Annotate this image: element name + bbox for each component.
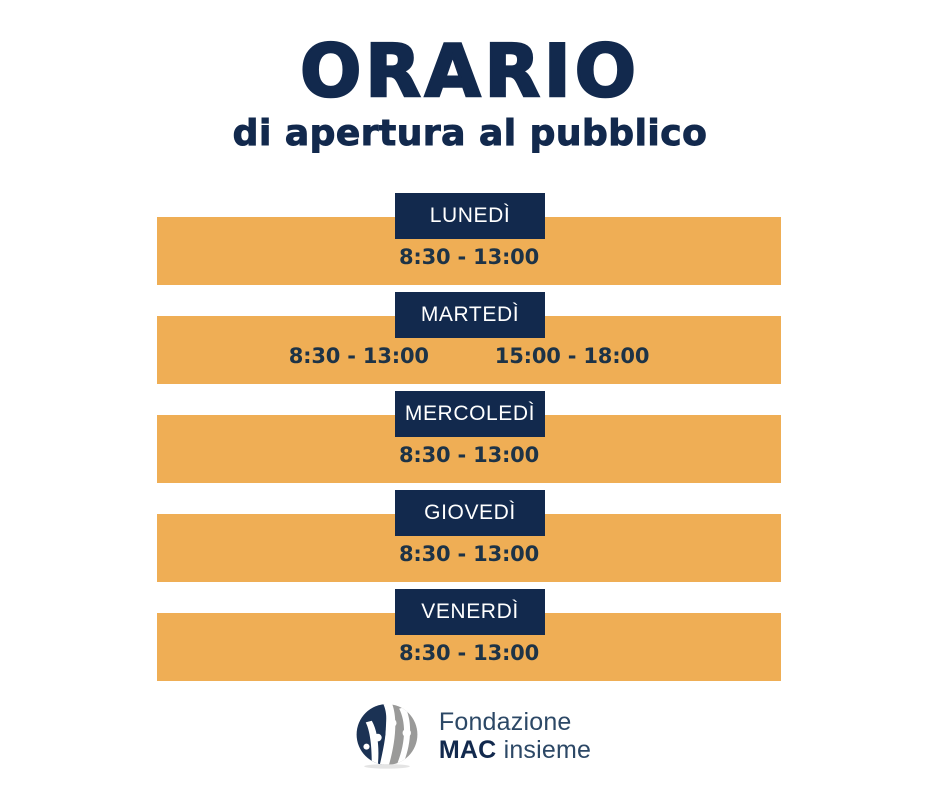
hours-slot: 8:30 - 13:00	[399, 443, 539, 467]
logo-line-mac-insieme: MAC insieme	[439, 737, 591, 763]
hours-slot: 8:30 - 13:00	[399, 542, 539, 566]
schedule-row: VENERDÌ 8:30 - 13:00	[0, 589, 940, 688]
schedule-row: LUNEDÌ 8:30 - 13:00	[0, 193, 940, 292]
hours-slot: 8:30 - 13:00	[399, 641, 539, 665]
schedule-row: GIOVEDÌ 8:30 - 13:00	[0, 490, 940, 589]
logo-insieme-text: insieme	[496, 736, 591, 764]
hours-slot: 15:00 - 18:00	[495, 344, 649, 368]
page-subtitle: di apertura al pubblico	[0, 114, 940, 154]
schedule-row: MARTEDÌ 8:30 - 13:00 15:00 - 18:00	[0, 292, 940, 391]
logo-line-fondazione: Fondazione	[439, 709, 591, 735]
day-hours: 8:30 - 13:00	[157, 542, 781, 566]
day-name-badge: VENERDÌ	[395, 589, 545, 635]
day-hours: 8:30 - 13:00	[157, 245, 781, 269]
logo-wordmark: Fondazione MAC insieme	[439, 709, 591, 764]
schedule-list: LUNEDÌ 8:30 - 13:00 MARTEDÌ 8:30 - 13:00…	[0, 193, 940, 688]
day-name-badge: MERCOLEDÌ	[395, 391, 545, 437]
hours-slot: 8:30 - 13:00	[289, 344, 429, 368]
schedule-row: MERCOLEDÌ 8:30 - 13:00	[0, 391, 940, 490]
day-hours: 8:30 - 13:00	[157, 641, 781, 665]
poster-header: ORARIO di apertura al pubblico	[0, 34, 940, 154]
fondazione-mac-logo-icon	[349, 698, 425, 774]
orario-poster: ORARIO di apertura al pubblico LUNEDÌ 8:…	[0, 0, 940, 788]
day-hours: 8:30 - 13:00	[157, 443, 781, 467]
logo-mac-text: MAC	[439, 736, 497, 764]
day-name-badge: LUNEDÌ	[395, 193, 545, 239]
footer-logo: Fondazione MAC insieme	[0, 698, 940, 774]
day-name-badge: MARTEDÌ	[395, 292, 545, 338]
day-hours: 8:30 - 13:00 15:00 - 18:00	[157, 344, 781, 368]
day-name-badge: GIOVEDÌ	[395, 490, 545, 536]
page-title: ORARIO	[0, 34, 940, 108]
hours-slot: 8:30 - 13:00	[399, 245, 539, 269]
